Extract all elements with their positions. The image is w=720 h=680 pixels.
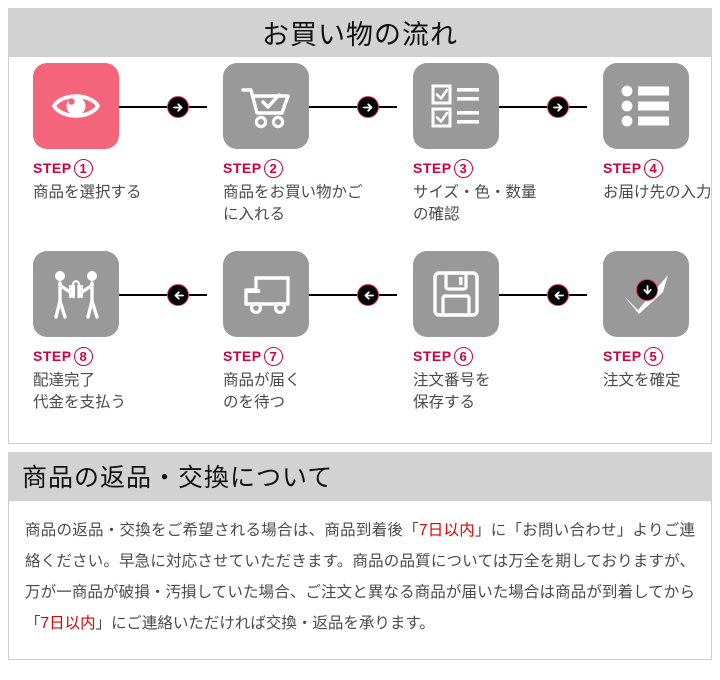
eye-icon	[50, 80, 102, 132]
flow-step-2[interactable]: STEP 2 商品をお買い物かご に入れる	[207, 63, 367, 227]
arrow-left-icon	[357, 284, 379, 306]
step-description: 商品をお買い物かご に入れる	[223, 182, 373, 227]
step-tile	[413, 63, 499, 149]
step-label: STEP 6	[413, 346, 557, 366]
step-label: STEP 5	[603, 346, 720, 366]
step-word: STEP	[33, 160, 72, 176]
step-tile	[33, 63, 119, 149]
step-tile	[223, 63, 309, 149]
step-number: 3	[454, 159, 473, 178]
step-label: STEP 7	[223, 346, 367, 366]
returns-header-bar: 商品の返品・交換について	[8, 452, 712, 500]
step-tile	[33, 251, 119, 337]
connector-7-8	[111, 294, 207, 296]
step-description: サイズ・色・数量 の確認	[413, 182, 563, 227]
step-description: 注文を確定	[603, 370, 720, 392]
step-number: 7	[264, 347, 283, 366]
step-word: STEP	[413, 348, 452, 364]
shopping-cart-icon	[239, 80, 293, 132]
page-header-bar: お買い物の流れ	[8, 8, 712, 56]
step-number: 6	[454, 347, 473, 366]
step-number: 1	[74, 159, 93, 178]
flow-step-7[interactable]: STEP 7 商品が届く のを待つ	[207, 251, 367, 415]
bullet-list-icon	[621, 85, 671, 127]
returns-paragraph: 商品の返品・交換をご希望される場合は、商品到着後「7日以内」に「お問い合わせ」よ…	[25, 515, 695, 639]
step-number: 4	[644, 159, 663, 178]
arrow-right-icon	[167, 96, 189, 118]
returns-panel: 商品の返品・交換をご希望される場合は、商品到着後「7日以内」に「お問い合わせ」よ…	[8, 500, 712, 660]
returns-text-part-3: 」にご連絡いただければ交換・返品を承ります。	[96, 615, 435, 632]
step-label: STEP 4	[603, 158, 720, 178]
step-word: STEP	[223, 160, 262, 176]
flow-step-4[interactable]: STEP 4 お届け先の入力	[587, 63, 720, 204]
flow-panel: STEP 1 商品を選択する STEP 2	[8, 56, 712, 444]
flow-row-1: STEP 1 商品を選択する STEP 2	[9, 63, 711, 243]
step-description: 商品を選択する	[33, 182, 183, 204]
step-word: STEP	[603, 160, 642, 176]
connector-1-2	[111, 106, 207, 108]
connector-6-7	[301, 294, 397, 296]
arrow-right-icon	[357, 96, 379, 118]
arrow-left-icon	[547, 284, 569, 306]
flow-step-1[interactable]: STEP 1 商品を選択する	[17, 63, 177, 204]
returns-highlight-2: 7日以内	[41, 615, 96, 632]
flow-step-8[interactable]: STEP 8 配達完了 代金を支払う	[17, 251, 177, 415]
step-number: 5	[644, 347, 663, 366]
step-tile	[603, 63, 689, 149]
step-label: STEP 2	[223, 158, 367, 178]
returns-text-part-1: 商品の返品・交換をご希望される場合は、商品到着後「	[25, 522, 419, 539]
checklist-icon	[430, 83, 482, 129]
returns-title: 商品の返品・交換について	[22, 458, 333, 494]
step-description: お届け先の入力	[603, 182, 720, 204]
step-description: 配達完了 代金を支払う	[33, 370, 183, 415]
arrow-down-icon	[636, 279, 658, 301]
page-title: お買い物の流れ	[262, 13, 458, 52]
connector-3-4	[491, 106, 587, 108]
flow-step-3[interactable]: STEP 3 サイズ・色・数量 の確認	[397, 63, 557, 227]
arrow-right-icon	[547, 96, 569, 118]
flow-step-6[interactable]: STEP 6 注文番号を 保存する	[397, 251, 557, 415]
handover-package-icon	[49, 269, 103, 319]
step-number: 8	[74, 347, 93, 366]
step-word: STEP	[33, 348, 72, 364]
step-description: 注文番号を 保存する	[413, 370, 563, 415]
step-label: STEP 1	[33, 158, 177, 178]
step-tile	[223, 251, 309, 337]
connector-5-6	[491, 294, 587, 296]
returns-highlight-1: 7日以内	[419, 522, 475, 539]
delivery-truck-icon	[238, 272, 294, 316]
step-number: 2	[264, 159, 283, 178]
step-label: STEP 3	[413, 158, 557, 178]
step-description: 商品が届く のを待つ	[223, 370, 373, 415]
step-tile	[413, 251, 499, 337]
flow-row-2: STEP 8 配達完了 代金を支払う STEP 7	[9, 251, 711, 431]
step-word: STEP	[603, 348, 642, 364]
step-word: STEP	[413, 160, 452, 176]
step-word: STEP	[223, 348, 262, 364]
flow-step-5[interactable]: STEP 5 注文を確定	[587, 251, 720, 392]
floppy-save-icon	[432, 270, 480, 318]
step-label: STEP 8	[33, 346, 177, 366]
arrow-left-icon	[167, 284, 189, 306]
shopping-flow-page: お買い物の流れ	[0, 8, 720, 680]
connector-2-3	[301, 106, 397, 108]
